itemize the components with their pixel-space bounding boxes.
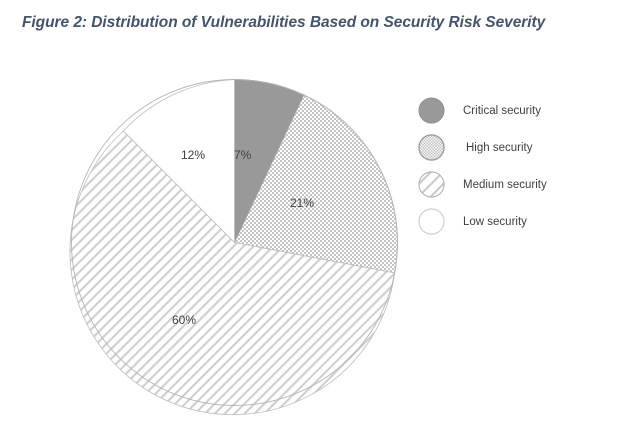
hatched-circle-icon — [418, 171, 445, 198]
pie-chart-svg — [62, 70, 407, 415]
legend-item-medium[interactable]: Medium security — [412, 166, 612, 203]
figure-title: Figure 2: Distribution of Vulnerabilitie… — [22, 14, 612, 32]
legend-item-high[interactable]: High security — [412, 129, 612, 166]
pie-label-high: 21% — [290, 196, 314, 210]
pie-label-critical: 7% — [234, 148, 251, 162]
legend-label-medium: Medium security — [463, 179, 547, 191]
solid-gray-circle-icon — [418, 97, 445, 124]
figure-container: Figure 2: Distribution of Vulnerabilitie… — [0, 0, 625, 427]
pie-label-low: 12% — [181, 148, 205, 162]
legend-label-critical: Critical security — [463, 105, 541, 117]
legend-item-critical[interactable]: Critical security — [412, 92, 612, 129]
legend-label-high: High security — [466, 142, 532, 154]
legend-item-low[interactable]: Low security — [412, 203, 612, 240]
legend-label-low: Low security — [463, 216, 527, 228]
pie-chart: 7% 21% 60% 12% — [62, 70, 407, 415]
chart-legend: Critical security High security Medium s… — [412, 92, 612, 240]
pie-label-medium: 60% — [172, 313, 196, 327]
stippled-gray-circle-icon — [418, 134, 445, 161]
white-circle-icon — [418, 208, 445, 235]
